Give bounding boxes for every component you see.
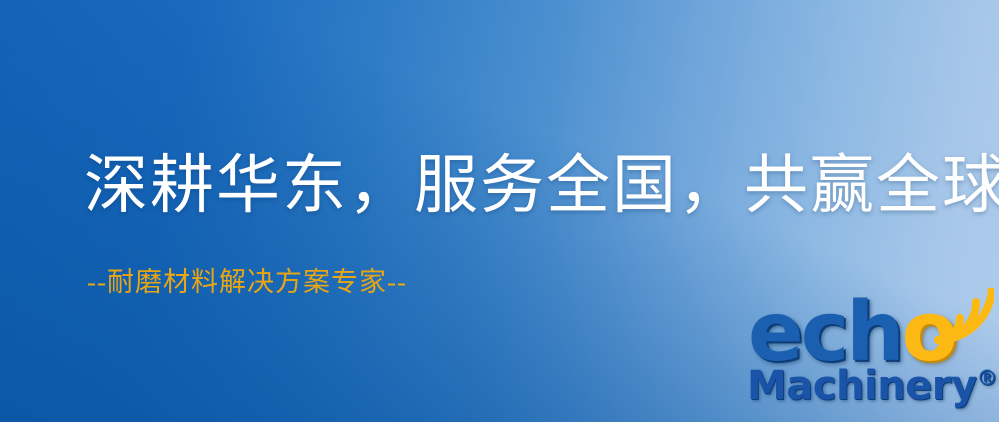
promo-banner: 深耕华东，服务全国，共赢全球 --耐磨材料解决方案专家-- echo Machi…	[0, 0, 999, 422]
logo-wordmark: echo	[748, 292, 955, 374]
registered-trademark-icon: ®	[977, 366, 998, 390]
logo-tagline-text: Machinery	[747, 363, 977, 409]
company-logo: echo Machinery®	[742, 292, 994, 418]
logo-tagline: Machinery®	[747, 366, 998, 406]
banner-subtitle: --耐磨材料解决方案专家--	[87, 266, 407, 298]
banner-headline: 深耕华东，服务全国，共赢全球	[84, 152, 999, 219]
